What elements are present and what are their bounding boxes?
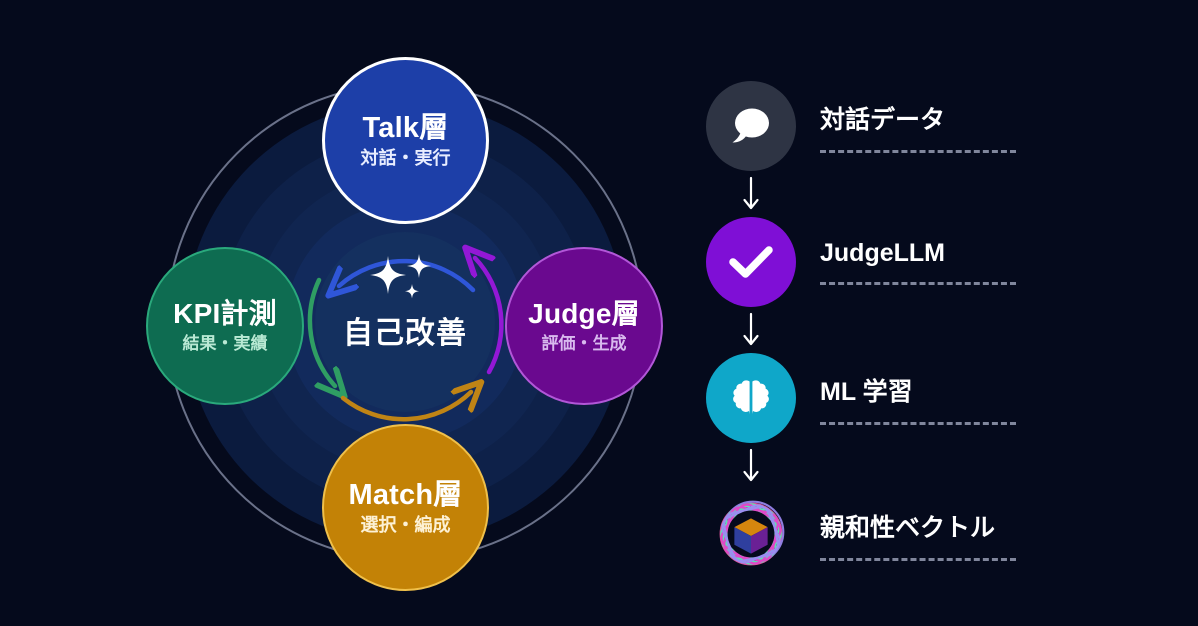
flow-label-affinity-vector: 親和性ベクトル [820, 508, 1016, 552]
flow-label-judge-llm: JudgeLLM [820, 239, 1016, 276]
arrow-talk-to-kpi [339, 261, 473, 290]
node-kpi-layer[interactable]: KPI計測 結果・実績 [146, 247, 304, 405]
node-match-subtitle: 選択・編成 [361, 516, 451, 535]
diagram-canvas: 自己改善 Talk層 対話・実行 KPI計測 結果・実績 Judge層 評価・生… [0, 0, 1198, 626]
node-judge-title: Judge層 [528, 299, 640, 328]
arrow-kpi-to-match [310, 280, 335, 386]
flow-label-box-affinity-vector: 親和性ベクトル [820, 508, 1016, 561]
flow-label-box-judge-llm: JudgeLLM [820, 239, 1016, 285]
arrow-down-icon [742, 448, 760, 484]
node-judge-layer[interactable]: Judge層 評価・生成 [505, 247, 663, 405]
node-kpi-title: KPI計測 [173, 299, 277, 328]
flow-step-affinity-vector[interactable]: 親和性ベクトル [706, 486, 1036, 582]
node-kpi-subtitle: 結果・実績 [183, 335, 268, 353]
node-judge-subtitle: 評価・生成 [542, 335, 627, 353]
arrow-judge-to-talk [475, 258, 501, 372]
arrow-down-icon [742, 176, 760, 212]
node-talk-subtitle: 対話・実行 [361, 149, 451, 168]
flow-label-ml-training: ML 学習 [820, 372, 1016, 416]
flow-badge-ml-training[interactable] [706, 353, 796, 443]
check-icon [728, 243, 774, 281]
flow-step-ml-training[interactable]: ML 学習 [706, 350, 1036, 446]
flow-step-judge-llm[interactable]: JudgeLLM [706, 214, 1036, 310]
flow-step-dialog-data[interactable]: 対話データ [706, 78, 1036, 174]
node-talk-layer[interactable]: Talk層 対話・実行 [322, 57, 489, 224]
flow-label-box-dialog-data: 対話データ [820, 100, 1016, 153]
brain-icon [729, 376, 773, 420]
pipeline-flow: 対話データ JudgeLLM [706, 78, 1036, 582]
node-talk-title: Talk層 [363, 113, 449, 143]
node-match-title: Match層 [349, 480, 463, 510]
flow-arrow-2 [706, 310, 796, 350]
flow-badge-affinity-vector[interactable] [706, 489, 796, 579]
speech-bubble-icon [728, 105, 774, 147]
flow-arrow-3 [706, 446, 796, 486]
flow-arrow-1 [706, 174, 796, 214]
cycle-arrows [285, 202, 525, 442]
arrow-down-icon [742, 312, 760, 348]
flow-label-box-ml-training: ML 学習 [820, 372, 1016, 425]
vector-cube-icon [706, 488, 796, 580]
flow-badge-dialog-data[interactable] [706, 81, 796, 171]
flow-label-dialog-data: 対話データ [820, 100, 1016, 144]
node-match-layer[interactable]: Match層 選択・編成 [322, 424, 489, 591]
arrow-match-to-judge [343, 392, 471, 419]
flow-badge-judge-llm[interactable] [706, 217, 796, 307]
